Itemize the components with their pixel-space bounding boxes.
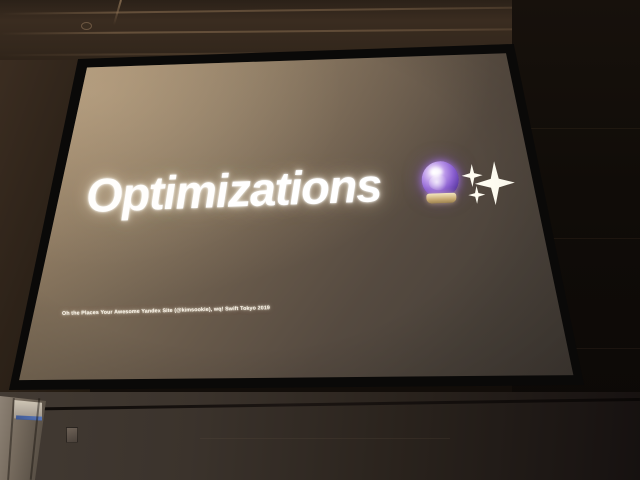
photo-scene: Optimizations Oh the Places Your Awesome… bbox=[0, 0, 640, 480]
wall-switch-plate bbox=[66, 427, 78, 443]
wall-seam-line bbox=[200, 438, 450, 439]
slide-title: Optimizations bbox=[85, 157, 382, 223]
